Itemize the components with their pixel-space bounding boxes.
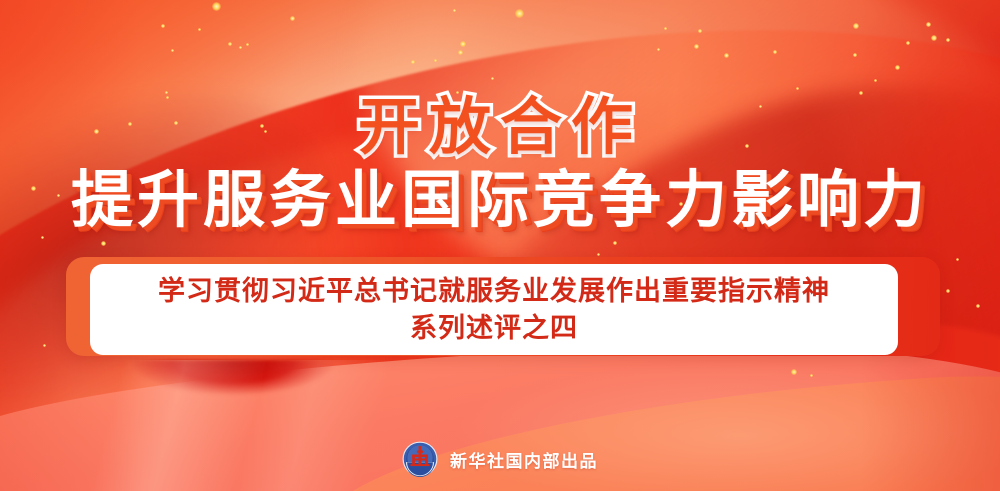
headline-line-1: 开放合作: [0, 92, 1000, 164]
headline-block: 开放合作 提升服务业国际竞争力影响力: [0, 92, 1000, 238]
subtitle-line-1: 学习贯彻习近平总书记就服务业发展作出重要指示精神: [158, 273, 830, 310]
background-vignette: [0, 0, 1000, 491]
subtitle-card: 学习贯彻习近平总书记就服务业发展作出重要指示精神 系列述评之四: [90, 264, 898, 355]
svg-text:XINHUA: XINHUA: [412, 467, 428, 472]
headline-line-2: 提升服务业国际竞争力影响力: [0, 164, 1000, 238]
footer-credit: XINHUA 新华社国内部出品: [0, 441, 1000, 477]
subtitle-line-2: 系列述评之四: [410, 310, 578, 347]
footer-credit-text: 新华社国内部出品: [450, 447, 598, 472]
poster-banner: 开放合作 提升服务业国际竞争力影响力 学习贯彻习近平总书记就服务业发展作出重要指…: [0, 0, 1000, 491]
xinhua-news-agency-logo-icon: XINHUA: [402, 441, 438, 477]
